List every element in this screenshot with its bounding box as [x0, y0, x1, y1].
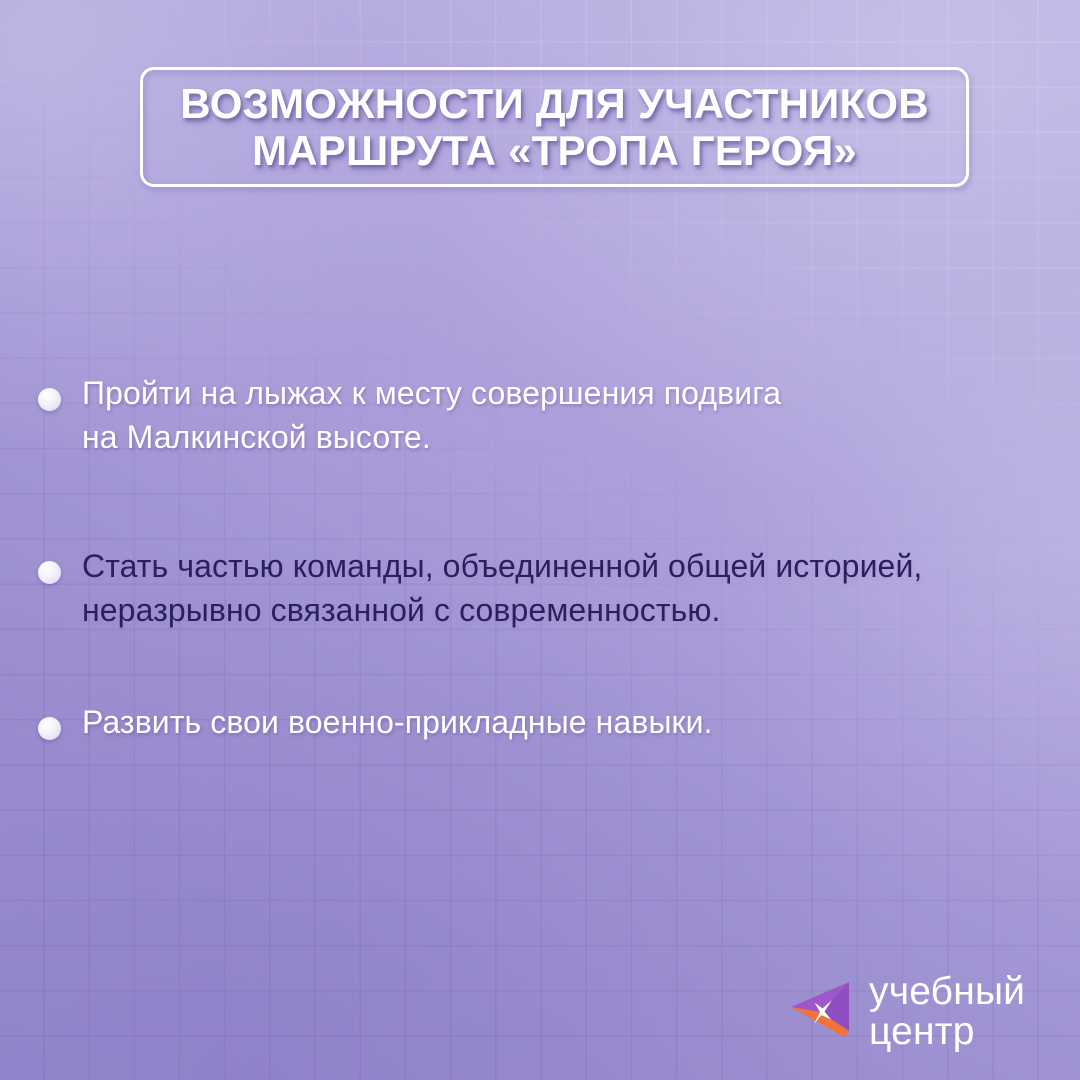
- slide-root: ВОЗМОЖНОСТИ ДЛЯ УЧАСТНИКОВ МАРШРУТА «ТРО…: [0, 0, 1080, 1080]
- list-item-label: Развить свои военно-прикладные навыки.: [82, 701, 713, 745]
- play-triangle-sparkle-logo-icon: [787, 979, 853, 1045]
- list-item: Развить свои военно-прикладные навыки.: [0, 701, 1080, 745]
- filled-circle-bullet-icon: [38, 717, 61, 740]
- slide-content: ВОЗМОЖНОСТИ ДЛЯ УЧАСТНИКОВ МАРШРУТА «ТРО…: [0, 0, 1080, 1080]
- list-item: Стать частью команды, объединенной общей…: [0, 545, 1080, 632]
- brand-wordmark-line-1: учебный: [869, 972, 1025, 1012]
- list-item-label: Пройти на лыжах к месту совершения подви…: [82, 372, 781, 459]
- filled-circle-bullet-icon: [38, 388, 61, 411]
- title-box: ВОЗМОЖНОСТИ ДЛЯ УЧАСТНИКОВ МАРШРУТА «ТРО…: [140, 67, 969, 187]
- page-title: ВОЗМОЖНОСТИ ДЛЯ УЧАСТНИКОВ МАРШРУТА «ТРО…: [170, 80, 939, 174]
- list-item: Пройти на лыжах к месту совершения подви…: [0, 372, 1080, 459]
- filled-circle-bullet-icon: [38, 561, 61, 584]
- brand-wordmark: учебный центр: [869, 972, 1025, 1052]
- bullet-list: Пройти на лыжах к месту совершения подви…: [0, 372, 1080, 745]
- list-item-label: Стать частью команды, объединенной общей…: [82, 545, 922, 632]
- brand-wordmark-line-2: центр: [869, 1012, 1025, 1052]
- brand-logo: учебный центр: [787, 972, 1025, 1052]
